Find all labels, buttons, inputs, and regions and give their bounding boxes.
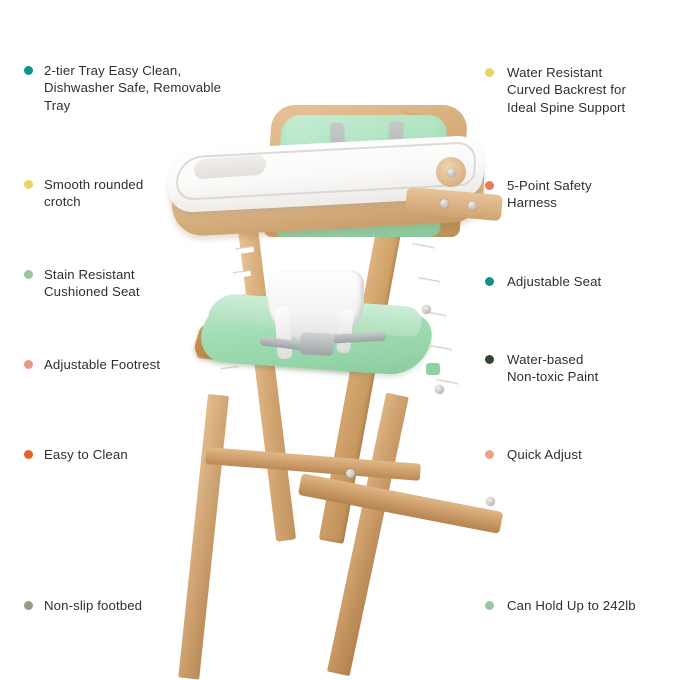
backpost-notch: [418, 277, 441, 286]
backpost-notch: [430, 345, 453, 354]
feature-callout-easy-clean: Easy to Clean: [24, 446, 254, 463]
screw-icon: [346, 469, 355, 478]
front-seat-rail: [236, 212, 296, 542]
bullet-dot-icon: [485, 601, 494, 610]
feature-label: 2-tier Tray Easy Clean, Dishwasher Safe,…: [44, 62, 221, 114]
bullet-dot-icon: [24, 270, 33, 279]
feature-label: Adjustable Seat: [507, 273, 601, 290]
bullet-dot-icon: [485, 355, 494, 364]
bullet-dot-icon: [24, 180, 33, 189]
feature-callout-backrest: Water Resistant Curved Backrest for Idea…: [485, 64, 670, 116]
feature-label: Water Resistant Curved Backrest for Idea…: [507, 64, 626, 116]
high-chair-product-image: [150, 95, 540, 605]
feature-label: Easy to Clean: [44, 446, 128, 463]
bullet-dot-icon: [24, 601, 33, 610]
feature-label: Smooth rounded crotch: [44, 176, 143, 211]
screw-icon: [435, 385, 444, 394]
harness-buckle: [299, 332, 334, 356]
feature-label: 5-Point Safety Harness: [507, 177, 592, 212]
screw-icon: [440, 199, 449, 208]
feature-callout-crotch: Smooth rounded crotch: [24, 176, 254, 211]
feature-label: Quick Adjust: [507, 446, 582, 463]
feature-label: Adjustable Footrest: [44, 356, 160, 373]
feature-label: Non-slip footbed: [44, 597, 142, 614]
backpost-notch: [412, 243, 435, 252]
screw-icon: [486, 497, 495, 506]
product-feature-infographic: 2-tier Tray Easy Clean, Dishwasher Safe,…: [0, 0, 679, 679]
feature-callout-adjustable-seat: Adjustable Seat: [485, 273, 670, 290]
feature-callout-footrest: Adjustable Footrest: [24, 356, 254, 373]
front-leg: [178, 394, 229, 680]
feature-label: Water-based Non-toxic Paint: [507, 351, 598, 386]
bullet-dot-icon: [24, 450, 33, 459]
feature-callout-paint: Water-based Non-toxic Paint: [485, 351, 670, 386]
feature-label: Can Hold Up to 242lb: [507, 597, 636, 614]
feature-label: Stain Resistant Cushioned Seat: [44, 266, 140, 301]
screw-icon: [468, 201, 477, 210]
bullet-dot-icon: [485, 68, 494, 77]
feature-callout-weight-capacity: Can Hold Up to 242lb: [485, 597, 679, 614]
screw-icon: [422, 305, 431, 314]
feature-callout-footbed: Non-slip footbed: [24, 597, 254, 614]
quick-adjust-tab: [426, 363, 440, 375]
bullet-dot-icon: [485, 181, 494, 190]
bullet-dot-icon: [24, 66, 33, 75]
bullet-dot-icon: [24, 360, 33, 369]
feature-callout-quick-adjust: Quick Adjust: [485, 446, 670, 463]
feature-callout-cushion: Stain Resistant Cushioned Seat: [24, 266, 254, 301]
bullet-dot-icon: [485, 277, 494, 286]
feature-callout-harness: 5-Point Safety Harness: [485, 177, 670, 212]
screw-icon: [447, 168, 456, 177]
bullet-dot-icon: [485, 450, 494, 459]
feature-callout-tray: 2-tier Tray Easy Clean, Dishwasher Safe,…: [24, 62, 274, 114]
